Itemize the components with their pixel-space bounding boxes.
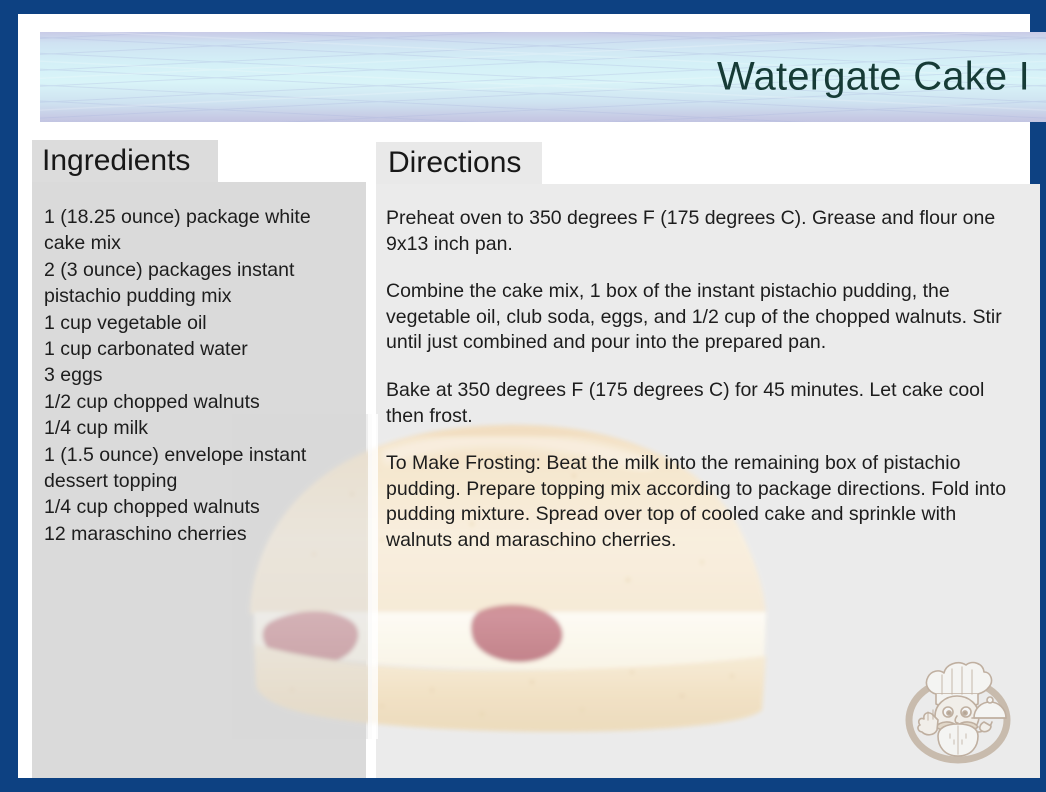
- direction-step: Preheat oven to 350 degrees F (175 degre…: [386, 206, 1026, 257]
- directions-panel: Preheat oven to 350 degrees F (175 degre…: [376, 184, 1040, 778]
- ingredient-item: 3 eggs: [44, 362, 352, 388]
- header-banner: Watergate Cake I: [40, 32, 1046, 122]
- ingredient-item: 1 (18.25 ounce) package white cake mix: [44, 204, 352, 257]
- page-title: Watergate Cake I: [717, 55, 1030, 100]
- direction-step: Combine the cake mix, 1 box of the insta…: [386, 279, 1026, 356]
- ingredients-section-header: Ingredients: [32, 140, 218, 182]
- ingredients-heading: Ingredients: [32, 144, 190, 178]
- ingredients-panel: 1 (18.25 ounce) package white cake mix2 …: [32, 182, 366, 778]
- direction-step-list: Preheat oven to 350 degrees F (175 degre…: [386, 206, 1026, 554]
- ingredient-item: 1 (1.5 ounce) envelope instant dessert t…: [44, 442, 352, 495]
- ingredient-item: 2 (3 ounce) packages instant pistachio p…: [44, 257, 352, 310]
- ingredient-item: 1/4 cup milk: [44, 415, 352, 441]
- directions-heading: Directions: [376, 146, 521, 180]
- ingredient-item: 1/4 cup chopped walnuts: [44, 494, 352, 520]
- ingredient-item: 12 maraschino cherries: [44, 521, 352, 547]
- ingredient-item: 1 cup carbonated water: [44, 336, 352, 362]
- ingredient-item: 1 cup vegetable oil: [44, 310, 352, 336]
- ingredient-list: 1 (18.25 ounce) package white cake mix2 …: [44, 204, 352, 547]
- direction-step: To Make Frosting: Beat the milk into the…: [386, 451, 1026, 553]
- ingredient-item: 1/2 cup chopped walnuts: [44, 389, 352, 415]
- directions-section-header: Directions: [376, 142, 542, 184]
- direction-step: Bake at 350 degrees F (175 degrees C) fo…: [386, 378, 1026, 429]
- recipe-card: Watergate Cake I Ingredients Directions …: [18, 14, 1030, 778]
